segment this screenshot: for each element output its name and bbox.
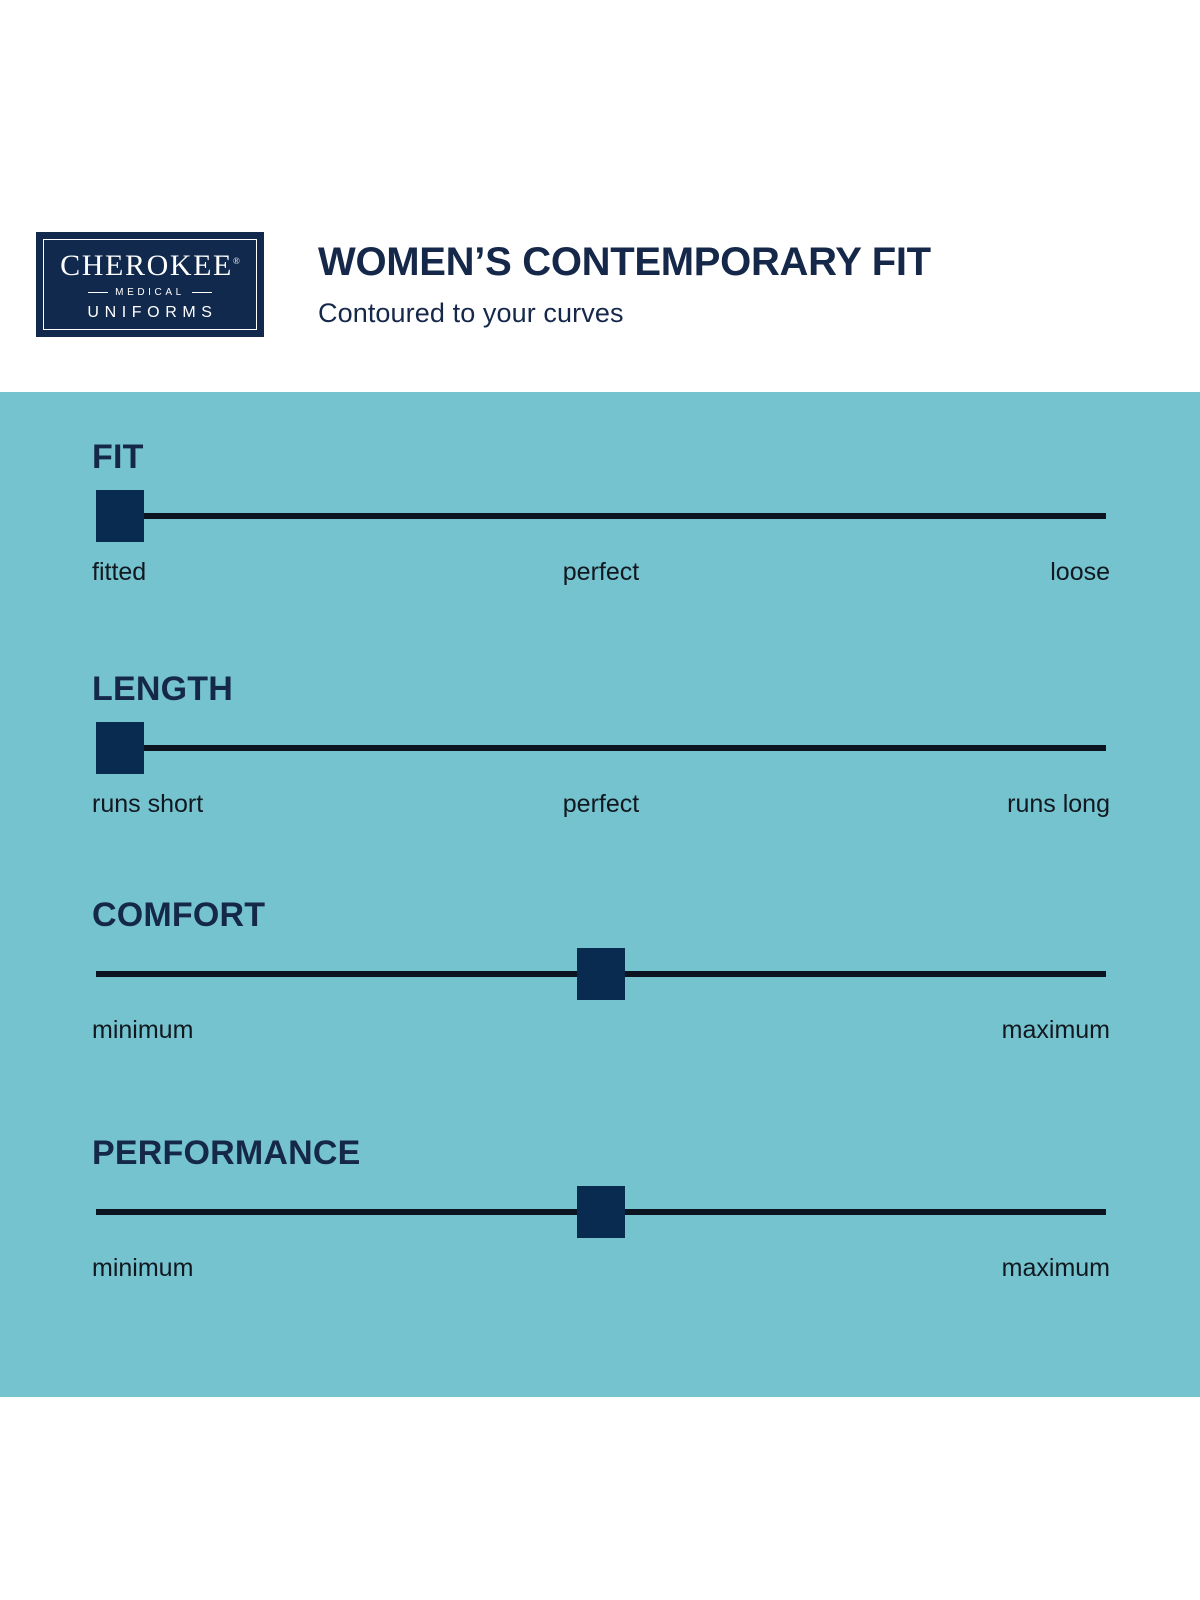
meter-length-track[interactable] [96, 745, 1106, 751]
meter-comfort-title: COMFORT [92, 898, 265, 932]
meter-fit-track[interactable] [96, 513, 1106, 519]
meter-performance-scale: minimum maximum [92, 1254, 1110, 1283]
page-subtitle: Contoured to your curves [318, 298, 624, 329]
meter-performance-title: PERFORMANCE [92, 1136, 361, 1170]
meter-length-title: LENGTH [92, 672, 233, 706]
page-header: CHEROKEE® MEDICAL UNIFORMS WOMEN’S CONTE… [0, 0, 1200, 392]
meter-fit-slider[interactable] [96, 488, 1106, 544]
logo-rule-right-icon [192, 292, 212, 294]
logo-rule-left-icon [88, 292, 108, 294]
registered-trademark-icon: ® [233, 256, 240, 266]
meter-performance-label-right: maximum [1002, 1254, 1110, 1283]
meter-performance-label-left: minimum [92, 1254, 193, 1283]
meter-comfort-handle[interactable] [577, 948, 625, 1000]
logo-brand-name: CHEROKEE® [60, 251, 240, 281]
attribute-meters-panel: FIT fitted perfect loose LENGTH runs sho… [0, 392, 1200, 1397]
logo-brand-text: CHEROKEE [60, 249, 233, 282]
logo-text-stack: CHEROKEE® MEDICAL UNIFORMS [60, 249, 240, 321]
meter-comfort-label-left: minimum [92, 1016, 193, 1045]
logo-medical-line: MEDICAL [60, 288, 240, 298]
meter-length-handle[interactable] [96, 722, 144, 774]
cherokee-logo: CHEROKEE® MEDICAL UNIFORMS [36, 232, 264, 337]
meter-performance-handle[interactable] [577, 1186, 625, 1238]
meter-length-scale: runs short perfect runs long [92, 790, 1110, 819]
meter-length-slider[interactable] [96, 720, 1106, 776]
meter-performance-slider[interactable] [96, 1184, 1106, 1240]
page-title: WOMEN’S CONTEMPORARY FIT [318, 240, 931, 285]
meter-fit-label-center: perfect [563, 558, 639, 587]
meter-fit-label-left: fitted [92, 558, 146, 587]
meter-fit-label-right: loose [1050, 558, 1110, 587]
meter-length-label-center: perfect [563, 790, 639, 819]
logo-uniforms-text: UNIFORMS [60, 305, 240, 321]
meter-fit-scale: fitted perfect loose [92, 558, 1110, 587]
meter-length-label-right: runs long [1007, 790, 1110, 819]
logo-medical-text: MEDICAL [115, 288, 185, 298]
meter-fit-handle[interactable] [96, 490, 144, 542]
meter-comfort-slider[interactable] [96, 946, 1106, 1002]
page-root: CHEROKEE® MEDICAL UNIFORMS WOMEN’S CONTE… [0, 0, 1200, 1600]
meter-comfort-label-right: maximum [1002, 1016, 1110, 1045]
meter-comfort-scale: minimum maximum [92, 1016, 1110, 1045]
meter-fit-title: FIT [92, 440, 144, 474]
meter-length-label-left: runs short [92, 790, 203, 819]
